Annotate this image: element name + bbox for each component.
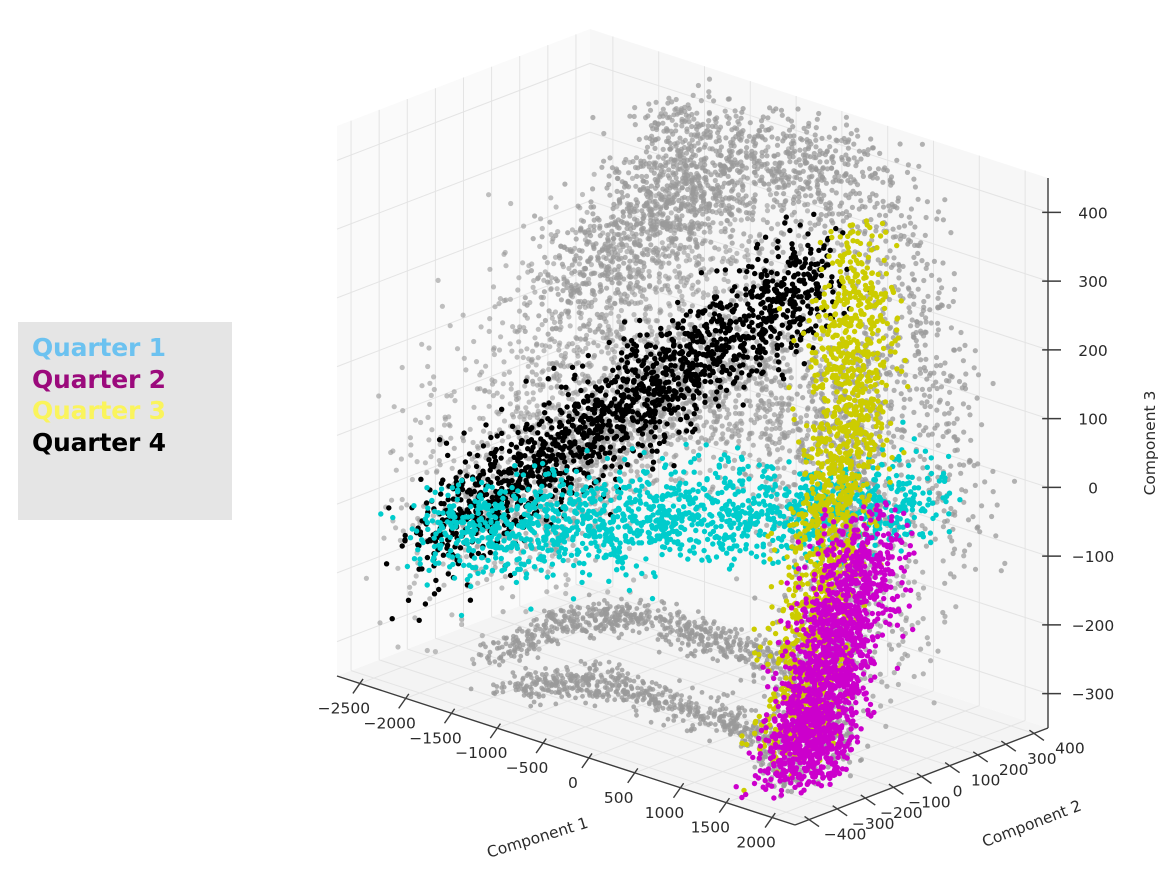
legend-label-quarter-1: Quarter 1	[32, 333, 166, 362]
figure-canvas: −2500−2000−1500−1000−5000500100015002000…	[0, 0, 1167, 896]
legend-label-quarter-3: Quarter 3	[32, 396, 166, 425]
legend-label-quarter-4: Quarter 4	[32, 428, 166, 457]
y-axis-title: Component 2	[980, 797, 1084, 851]
quarter-legend: Quarter 1 Quarter 2 Quarter 3 Quarter 4	[18, 322, 232, 520]
x-axis-title: Component 1	[485, 814, 590, 862]
legend-label-quarter-2: Quarter 2	[32, 365, 166, 394]
legend-entry-quarter-1: Quarter 1	[32, 332, 218, 364]
legend-entry-quarter-2: Quarter 2	[32, 364, 218, 396]
legend-entry-quarter-3: Quarter 3	[32, 395, 218, 427]
legend-entry-quarter-4: Quarter 4	[32, 427, 218, 459]
z-axis-title: Component 3	[1141, 391, 1159, 496]
